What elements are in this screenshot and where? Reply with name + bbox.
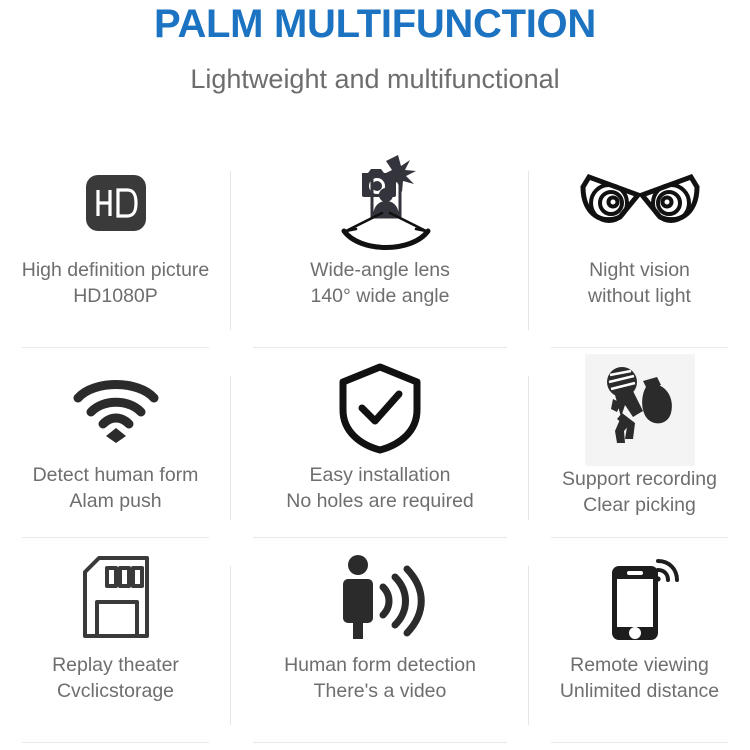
- feature-line-1: Wide-angle lens: [310, 259, 450, 281]
- feature-line-2: There's a video: [284, 678, 476, 704]
- feature-caption: Support recording Clear picking: [562, 466, 717, 518]
- feature-cell-detect-human-form: Detect human form Alam push: [0, 348, 231, 538]
- feature-grid-page: PALM MULTIFUNCTION Lightweight and multi…: [0, 0, 750, 750]
- feature-caption: Remote viewing Unlimited distance: [560, 652, 719, 704]
- feature-cell-night-vision: Night vision without light: [529, 143, 750, 348]
- feature-line-1: Night vision: [589, 259, 690, 281]
- feature-caption: High definition picture HD1080P: [22, 257, 210, 309]
- feature-caption: Human form detection There's a video: [284, 652, 476, 704]
- feature-line-2: Cvclicstorage: [52, 678, 179, 704]
- feature-cell-support-recording: Support recording Clear picking: [529, 348, 750, 538]
- features-grid: High definition picture HD1080P: [0, 143, 750, 743]
- feature-caption: Easy installation No holes are required: [286, 462, 474, 514]
- feature-line-1: Support recording: [562, 468, 717, 490]
- feature-line-1: High definition picture: [22, 259, 210, 281]
- feature-caption: Wide-angle lens 140° wide angle: [310, 257, 450, 309]
- wide-angle-camera-icon: [320, 149, 440, 257]
- feature-line-2: Alam push: [33, 488, 199, 514]
- feature-caption: Replay theater Cvclicstorage: [52, 652, 179, 704]
- feature-caption: Night vision without light: [588, 257, 691, 309]
- feature-caption: Detect human form Alam push: [33, 462, 199, 514]
- human-motion-sensor-icon: [331, 544, 429, 652]
- feature-line-2: 140° wide angle: [310, 283, 450, 309]
- shield-check-icon: [337, 354, 423, 462]
- feature-cell-remote-viewing: Remote viewing Unlimited distance: [529, 538, 750, 743]
- night-vision-eyes-icon: [575, 149, 705, 257]
- feature-line-1: Replay theater: [52, 654, 179, 676]
- feature-line-1: Easy installation: [310, 464, 451, 486]
- feature-line-1: Detect human form: [33, 464, 199, 486]
- smartphone-wifi-icon: [594, 544, 686, 652]
- feature-line-2: without light: [588, 283, 691, 309]
- page-header: PALM MULTIFUNCTION Lightweight and multi…: [0, 0, 750, 96]
- feature-line-2: Unlimited distance: [560, 678, 719, 704]
- feature-line-2: No holes are required: [286, 488, 474, 514]
- feature-cell-human-form-detection: Human form detection There's a video: [231, 538, 529, 743]
- wifi-signal-icon: [70, 354, 162, 462]
- feature-cell-replay-theater: Replay theater Cvclicstorage: [0, 538, 231, 743]
- feature-cell-wide-angle: Wide-angle lens 140° wide angle: [231, 143, 529, 348]
- feature-cell-high-definition: High definition picture HD1080P: [0, 143, 231, 348]
- sd-card-icon: [77, 544, 155, 652]
- feature-cell-easy-installation: Easy installation No holes are required: [231, 348, 529, 538]
- hd-badge-icon: [79, 149, 153, 257]
- feature-line-2: Clear picking: [562, 492, 717, 518]
- page-subtitle: Lightweight and multifunctional: [0, 62, 750, 96]
- page-title: PALM MULTIFUNCTION: [0, 2, 750, 46]
- feature-line-1: Human form detection: [284, 654, 476, 676]
- feature-line-1: Remote viewing: [570, 654, 709, 676]
- feature-line-2: HD1080P: [22, 283, 210, 309]
- burglar-with-sack-icon: [585, 354, 695, 466]
